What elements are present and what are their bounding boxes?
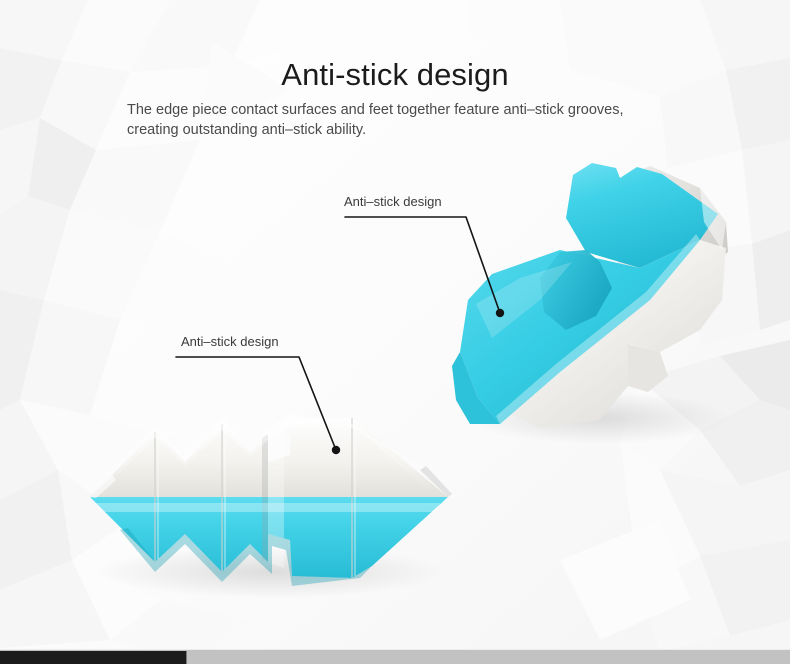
horizontal-scrollbar-thumb[interactable] (0, 651, 187, 664)
callout-label-upper-product: Anti–stick design (344, 194, 442, 210)
page-title: Anti-stick design (0, 57, 790, 93)
upper-product-foot-notch (628, 344, 668, 392)
callout-label-lower-product: Anti–stick design (181, 334, 279, 350)
callout-dot-bottom (332, 446, 340, 454)
product-feature-page: Anti-stick design The edge piece contact… (0, 0, 790, 664)
product-illustration (0, 0, 790, 664)
callout-dot-top (496, 309, 504, 317)
lower-product-cyan-gloss (96, 503, 440, 512)
lower-product-seam-shadow (262, 434, 268, 562)
page-subtitle-line-1: The edge piece contact surfaces and feet… (127, 101, 727, 121)
page-subtitle-line-2: creating outstanding anti–stick ability. (127, 121, 727, 141)
page-subtitle: The edge piece contact surfaces and feet… (127, 101, 727, 140)
horizontal-scrollbar-track[interactable] (0, 649, 790, 664)
